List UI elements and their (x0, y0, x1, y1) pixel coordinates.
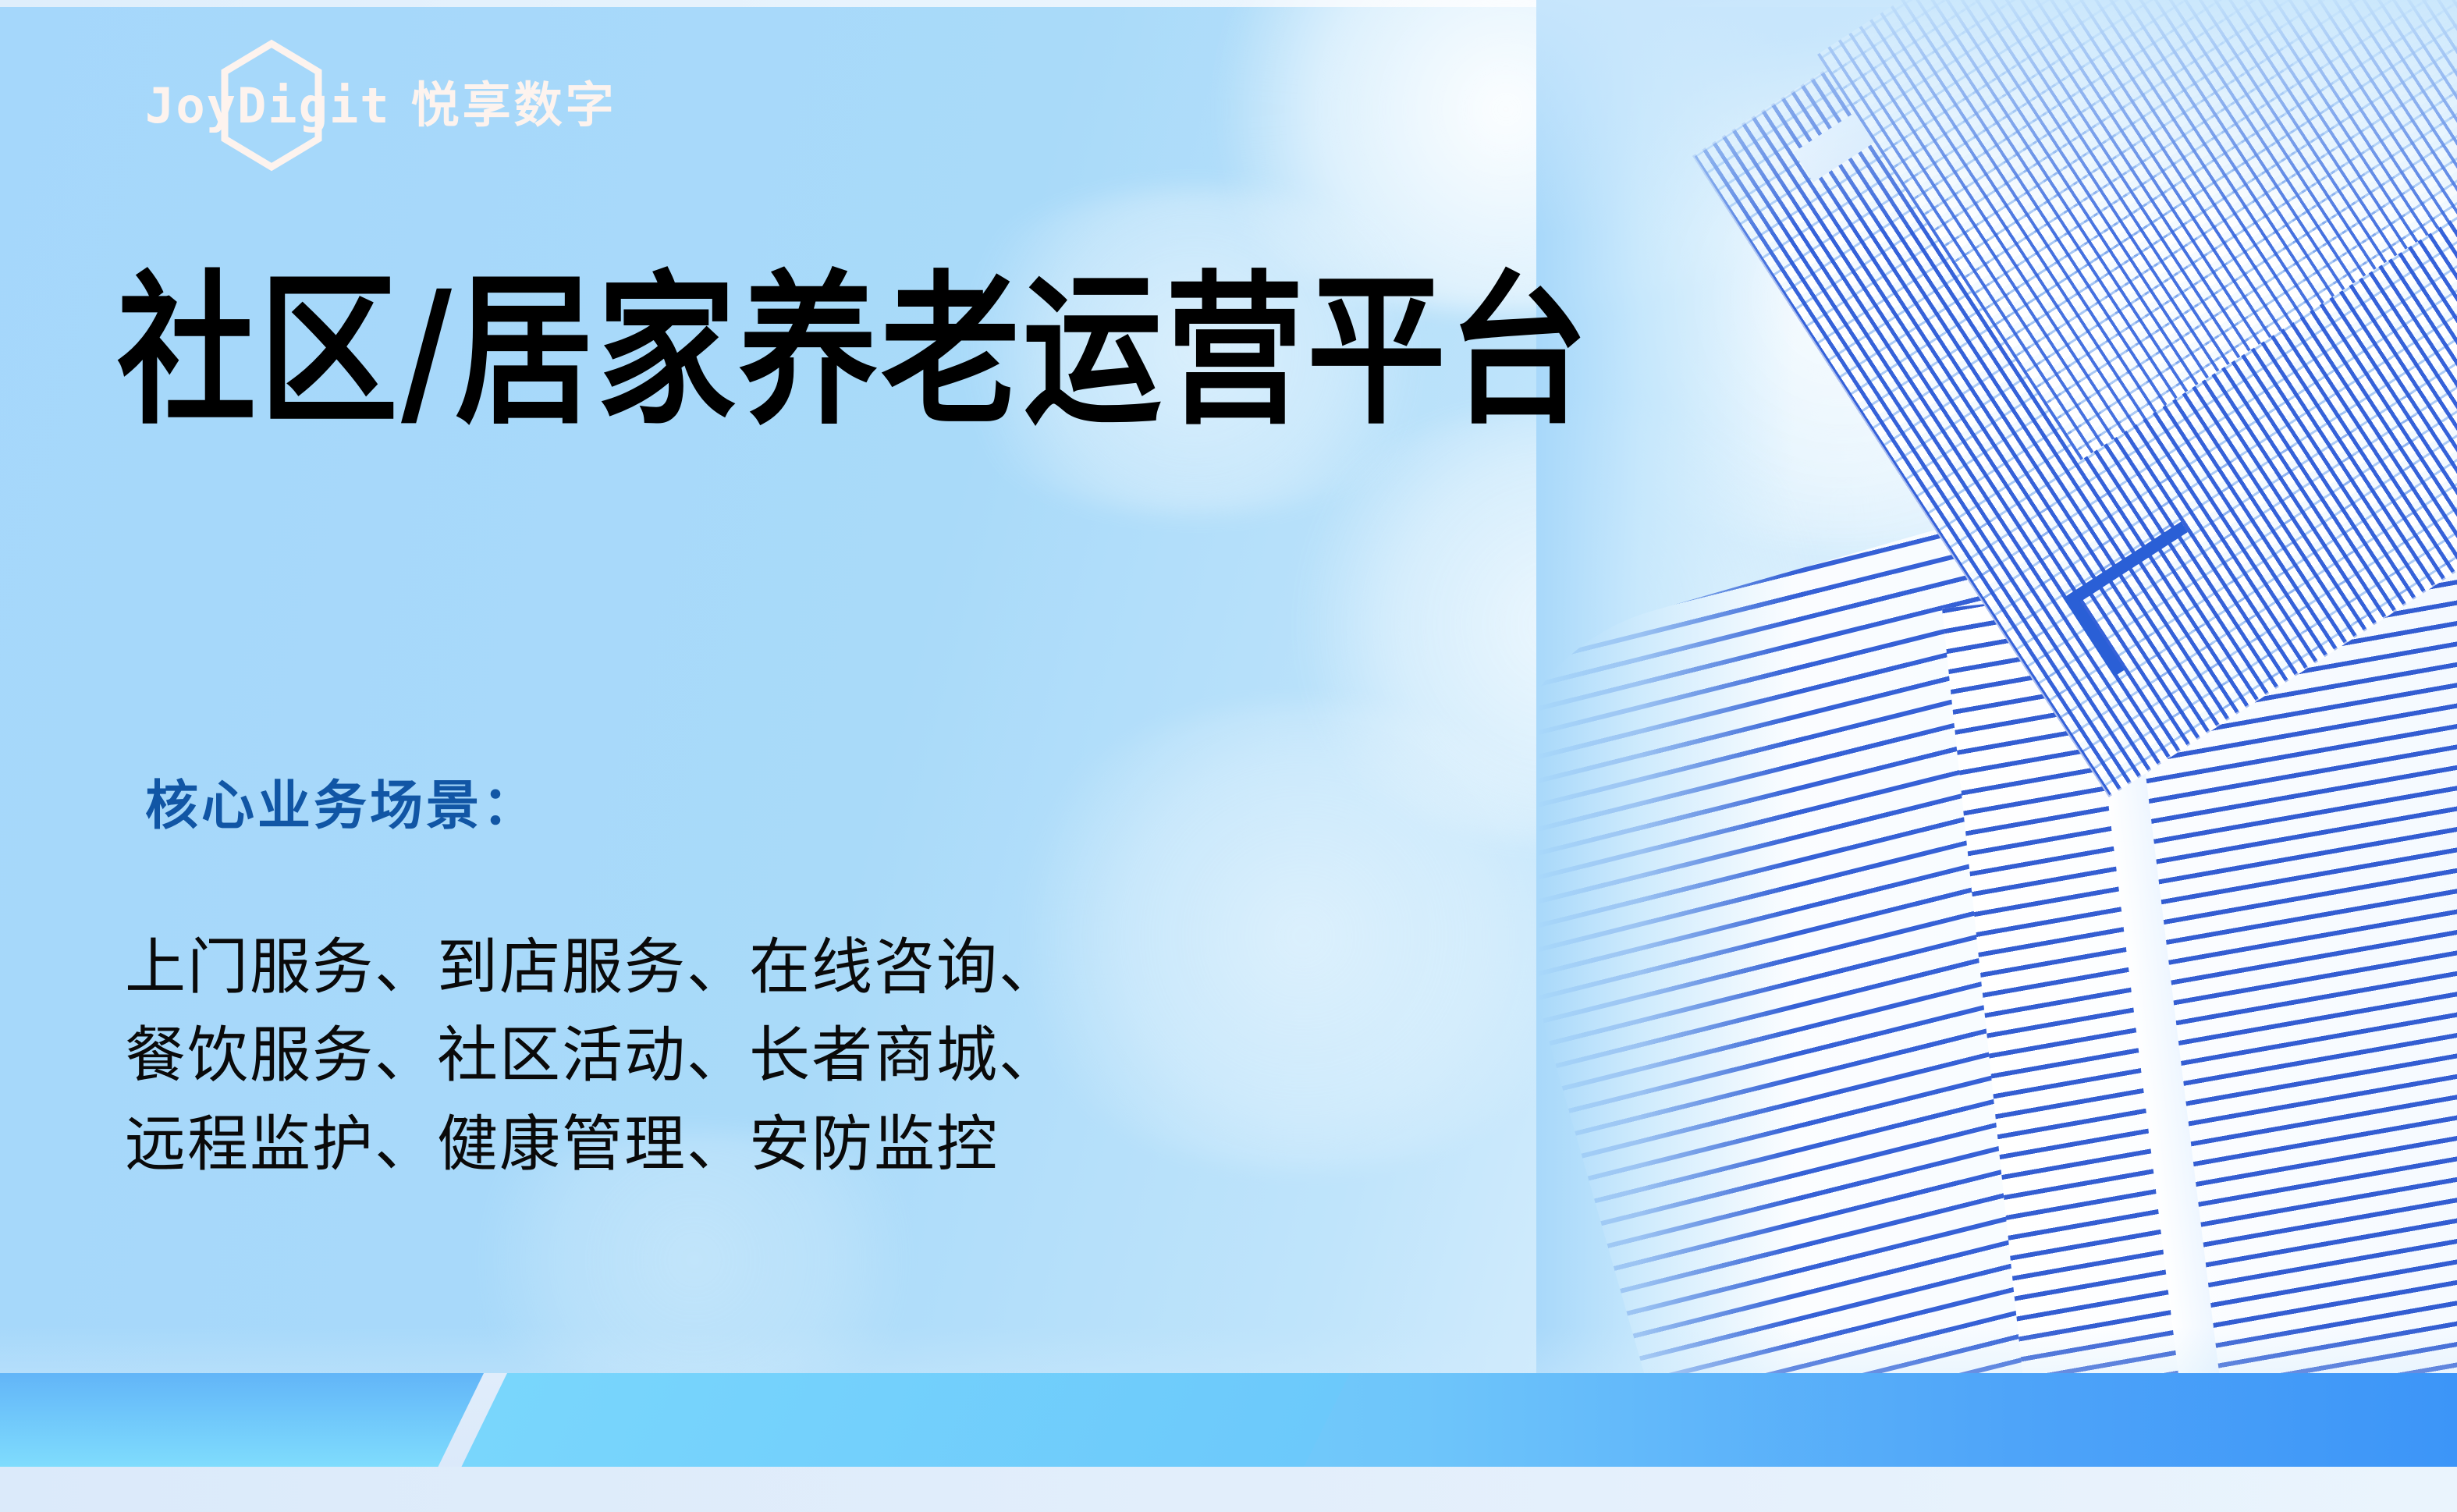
slide-root: JoyDigit 悦享数字 社区/居家养老运营平台 核心业务场景： 上门服务、到… (0, 0, 2457, 1512)
brand-logo-latin: JoyDigit (145, 82, 391, 130)
band-footer-strip (0, 1467, 2457, 1512)
sky-background (0, 0, 2457, 1512)
page-title: 社区/居家养老运营平台 (117, 265, 1591, 439)
scenario-line: 远程监护、健康管理、安防监控 (125, 1106, 1061, 1184)
band-top-fade (0, 1326, 2457, 1375)
bottom-decorative-band (0, 1326, 2457, 1512)
brand-logo[interactable]: JoyDigit 悦享数字 (145, 75, 617, 137)
cloud-shape (1600, 765, 2146, 1170)
scenario-list: 上门服务、到店服务、在线咨询、 餐饮服务、社区活动、长者商城、 远程监护、健康管… (125, 928, 1061, 1194)
section-heading: 核心业务场景： (145, 780, 538, 833)
brand-logo-cn: 悦享数字 (411, 82, 617, 130)
band-dark-parallelogram (0, 1373, 484, 1467)
scenario-line: 上门服务、到店服务、在线咨询、 (125, 928, 1061, 1007)
band-light-parallelogram (461, 1373, 1350, 1467)
cloud-shape (983, 702, 1623, 1170)
scenario-line: 餐饮服务、社区活动、长者商城、 (125, 1017, 1061, 1095)
